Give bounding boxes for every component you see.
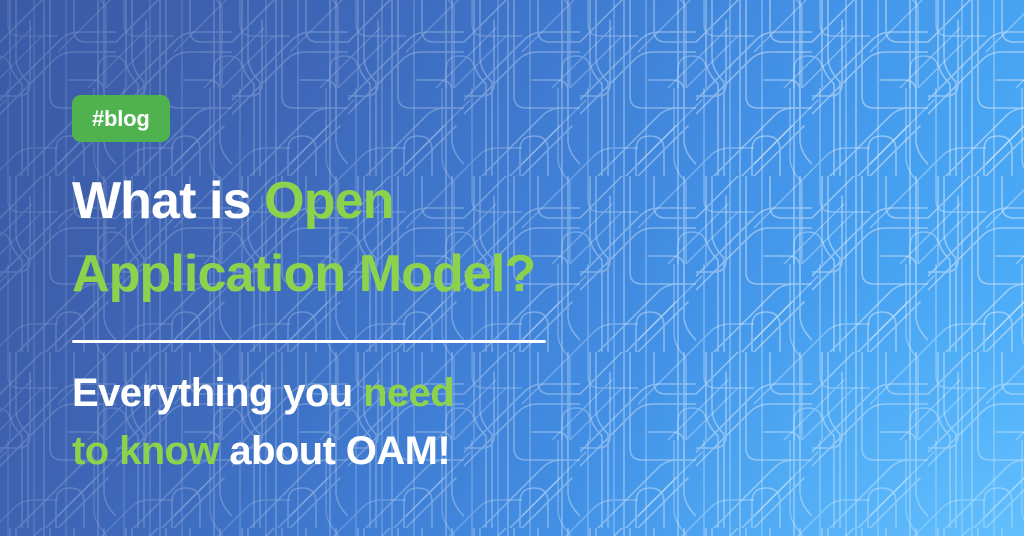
title-line-1-accent: Open [264,172,393,230]
subtitle-line-2-white: about OAM! [219,429,450,473]
blog-banner: #blog What is Open Application Model? Ev… [0,0,1024,536]
page-subtitle: Everything you need to know about OAM! [72,364,692,480]
subtitle-line-1-accent: need [363,371,454,415]
page-title: What is Open Application Model? [72,165,692,311]
banner-content: #blog What is Open Application Model? Ev… [72,0,692,536]
subtitle-line-1-white: Everything you [72,371,363,415]
title-divider [72,340,546,343]
title-line-2-accent: Application Model? [72,245,535,303]
blog-tag-badge: #blog [72,95,170,142]
subtitle-line-2-accent: to know [72,429,219,473]
title-line-1-white: What is [72,172,264,230]
